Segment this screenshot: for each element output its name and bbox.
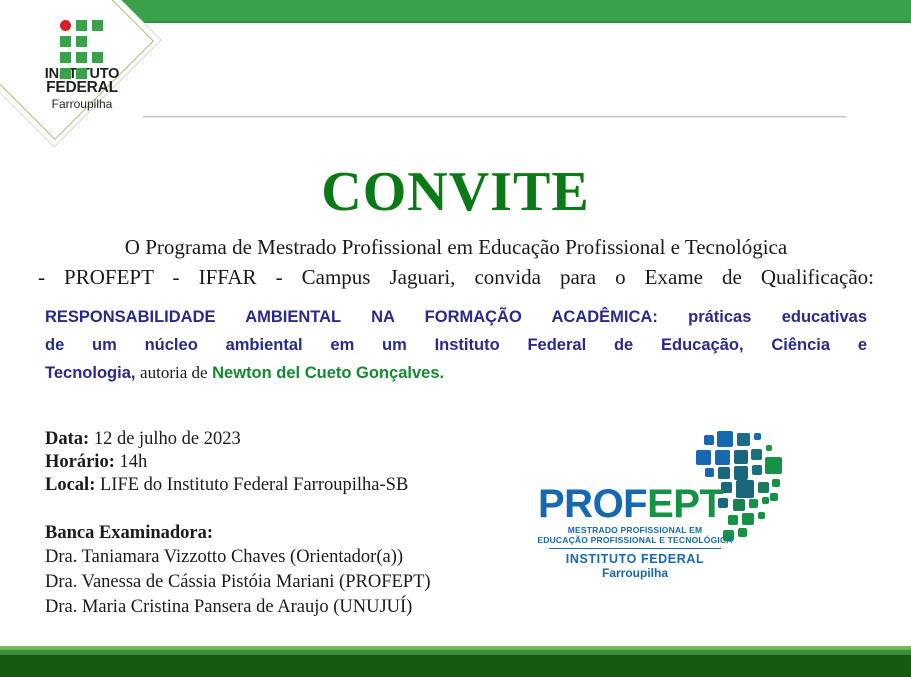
profept-word-blue: PROF bbox=[538, 482, 647, 526]
detail-row-date: Data: 12 de julho de 2023 bbox=[45, 428, 515, 451]
research-title-block: RESPONSABILIDADE AMBIENTAL NA FORMAÇÃO A… bbox=[45, 303, 867, 387]
intro-line-1: O Programa de Mestrado Profissional em E… bbox=[38, 232, 874, 262]
time-label: Horário: bbox=[45, 452, 115, 472]
research-title-line-3: Tecnologia, autoria de Newton del Cueto … bbox=[45, 359, 867, 387]
committee-member: Dra. Taniamara Vizzotto Chaves (Orientad… bbox=[45, 545, 515, 570]
detail-row-time: Horário: 14h bbox=[45, 451, 515, 474]
bottom-bar-dark-green bbox=[0, 655, 911, 677]
profept-divider bbox=[549, 548, 721, 549]
time-value: 14h bbox=[120, 452, 148, 472]
committee-heading: Banca Examinadora: bbox=[45, 521, 515, 545]
date-label: Data: bbox=[45, 429, 89, 449]
research-title-tail: Tecnologia, bbox=[45, 364, 135, 382]
profept-word-green: EPT bbox=[647, 482, 723, 526]
profept-institute-line1: INSTITUTO FEDERAL bbox=[535, 552, 735, 566]
research-title-line-2: de um núcleo ambiental em um Instituto F… bbox=[45, 331, 867, 359]
intro-line-2: - PROFEPT - IFFAR - Campus Jaguari, conv… bbox=[38, 262, 874, 292]
committee-member: Dra. Maria Cristina Pansera de Araujo (U… bbox=[45, 595, 515, 620]
committee-member: Dra. Vanessa de Cássia Pistóia Mariani (… bbox=[45, 570, 515, 595]
profept-institute-line2: Farroupilha bbox=[535, 566, 735, 580]
profept-logo: PROFEPT MESTRADO PROFISSIONAL EM EDUCAÇÃ… bbox=[535, 427, 785, 587]
if-wordmark-line2: FEDERAL bbox=[22, 81, 142, 95]
page-title: CONVITE bbox=[0, 163, 911, 222]
invitation-page: INSTITUTO FEDERAL Farroupilha CONVITE O … bbox=[0, 0, 911, 677]
authorship-label: autoria de bbox=[140, 363, 208, 382]
research-title-line-1: RESPONSABILIDADE AMBIENTAL NA FORMAÇÃO A… bbox=[45, 303, 867, 331]
if-campus-label: Farroupilha bbox=[22, 97, 142, 111]
place-label: Local: bbox=[45, 475, 95, 495]
examining-committee: Banca Examinadora: Dra. Taniamara Vizzot… bbox=[45, 521, 515, 620]
header-divider bbox=[143, 116, 846, 118]
author-name: Newton del Cueto Gonçalves. bbox=[212, 364, 444, 382]
profept-wordmark: PROFEPT bbox=[538, 484, 723, 524]
place-value: LIFE do Instituto Federal Farroupilha-SB bbox=[100, 475, 408, 495]
event-details: Data: 12 de julho de 2023 Horário: 14h L… bbox=[45, 428, 515, 497]
intro-paragraph: O Programa de Mestrado Profissional em E… bbox=[38, 232, 874, 292]
profept-subtitle-line1: MESTRADO PROFISSIONAL EM bbox=[535, 525, 735, 535]
if-pixel-grid-icon bbox=[60, 20, 105, 64]
date-value: 12 de julho de 2023 bbox=[94, 429, 241, 449]
instituto-federal-logo: INSTITUTO FEDERAL Farroupilha bbox=[22, 20, 142, 115]
profept-subtitle-line2: EDUCAÇÃO PROFISSIONAL E TECNOLÓGICA bbox=[535, 535, 735, 545]
detail-row-place: Local: LIFE do Instituto Federal Farroup… bbox=[45, 474, 515, 497]
